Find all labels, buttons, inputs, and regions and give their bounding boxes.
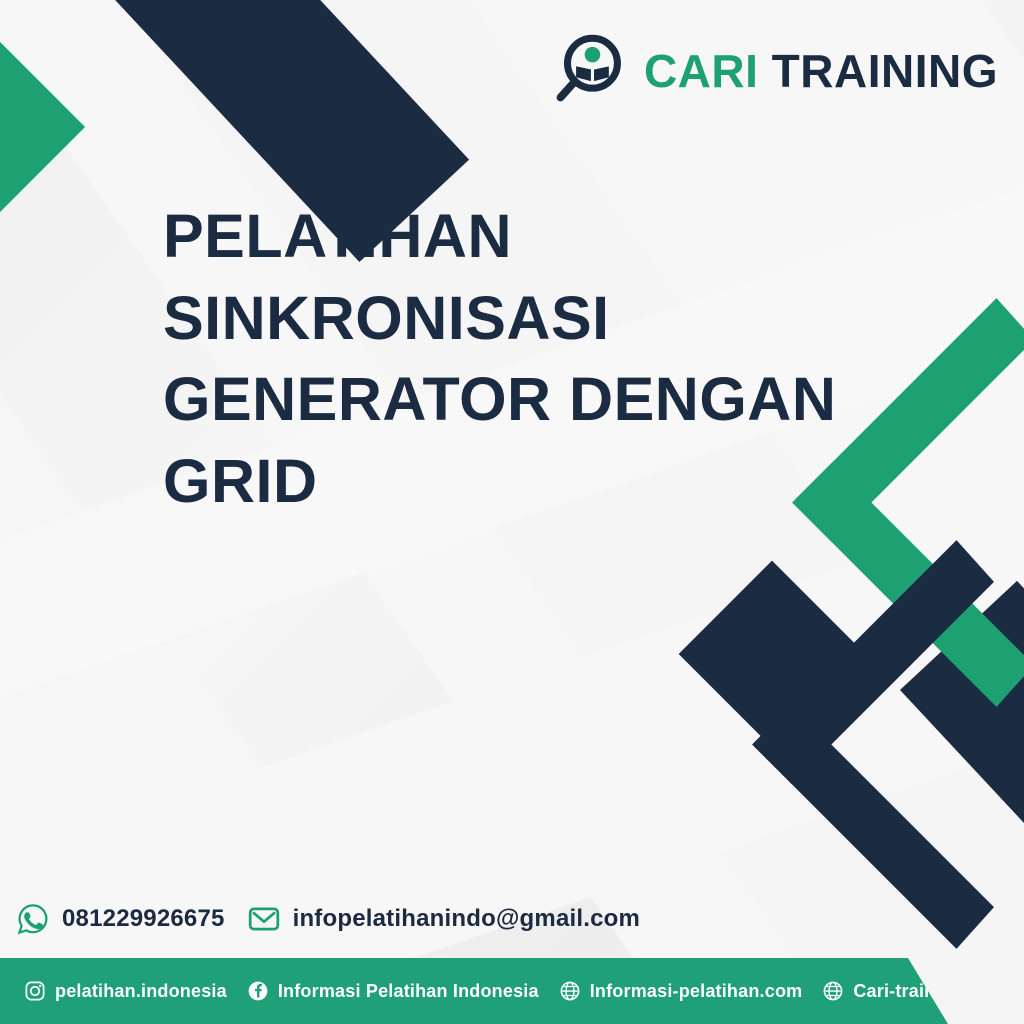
footer-bar: pelatihan.indonesia Informasi Pelatihan … [0,958,1024,1024]
whatsapp-icon [16,902,50,936]
globe-icon [822,980,844,1002]
footer-instagram-label: pelatihan.indonesia [55,981,227,1002]
brand-wordmark: CARI TRAINING [644,48,998,94]
contact-email[interactable]: infopelatihanindo@gmail.com [247,902,640,936]
footer-instagram[interactable]: pelatihan.indonesia [24,980,227,1002]
brand-name-secondary: TRAINING [772,45,998,97]
brand-logo: CARI TRAINING [548,32,998,110]
facebook-icon [247,980,269,1002]
page-title: PELATIHAN SINKRONISASI GENERATOR DENGAN … [163,196,883,523]
contact-whatsapp[interactable]: 081229926675 [16,902,225,936]
footer-facebook[interactable]: Informasi Pelatihan Indonesia [247,980,539,1002]
magnifier-book-icon [548,32,626,110]
brand-name-primary: CARI [644,45,758,97]
instagram-icon [24,980,46,1002]
globe-icon [559,980,581,1002]
contact-email-label: infopelatihanindo@gmail.com [293,905,640,933]
footer-website-1[interactable]: Informasi-pelatihan.com [559,980,803,1002]
footer-facebook-label: Informasi Pelatihan Indonesia [278,981,539,1002]
contact-row: 081229926675 infopelatihanindo@gmail.com [16,902,640,936]
email-icon [247,902,281,936]
poster-canvas: CARI TRAINING PELATIHAN SINKRONISASI GEN… [0,0,1024,1024]
contact-whatsapp-label: 081229926675 [62,905,225,933]
footer-website-1-label: Informasi-pelatihan.com [590,981,803,1002]
